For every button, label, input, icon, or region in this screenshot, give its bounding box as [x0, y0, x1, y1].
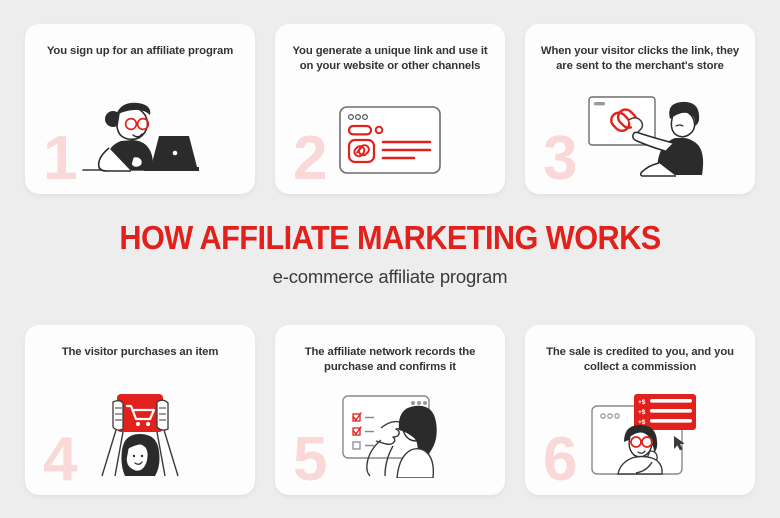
step-card-2-title: You generate a unique link and use it on… [289, 44, 491, 73]
step-card-1-number: 1 [43, 128, 77, 190]
step-card-6-number: 6 [543, 429, 577, 491]
step-card-4-number: 4 [43, 429, 77, 491]
step-card-4: The visitor purchases an item 4 [25, 325, 255, 495]
person-with-checklist-illustration [341, 392, 457, 483]
svg-text:+$: +$ [638, 409, 646, 416]
step-card-6-title: The sale is credited to you, and you col… [539, 345, 741, 374]
step-card-3-title: When your visitor clicks the link, they … [539, 44, 741, 73]
step-card-3-number: 3 [543, 128, 577, 190]
steps-row-top: You sign up for an affiliate program 1 [0, 24, 780, 194]
step-card-1: You sign up for an affiliate program 1 [25, 24, 255, 194]
step-card-1-title: You sign up for an affiliate program [39, 44, 241, 59]
steps-row-bottom: The visitor purchases an item 4 [0, 325, 780, 495]
step-card-6: The sale is credited to you, and you col… [525, 325, 755, 495]
person-holding-shopping-cart-illustration [92, 392, 188, 483]
svg-text:+$: +$ [638, 399, 646, 406]
person-with-commission-panel-illustration: +$ +$ +$ [590, 392, 708, 483]
affiliate-marketing-infographic: You sign up for an affiliate program 1 [0, 0, 780, 518]
step-card-5-title: The affiliate network records the purcha… [289, 345, 491, 374]
svg-text:+$: +$ [638, 419, 646, 426]
step-card-4-title: The visitor purchases an item [39, 345, 241, 360]
step-card-5-number: 5 [293, 429, 327, 491]
step-card-2-number: 2 [293, 128, 327, 190]
step-card-3: When your visitor clicks the link, they … [525, 24, 755, 194]
person-at-laptop-illustration [81, 91, 199, 182]
step-card-5: The affiliate network records the purcha… [275, 325, 505, 495]
step-card-2: You generate a unique link and use it on… [275, 24, 505, 194]
sub-title: e-commerce affiliate program [0, 265, 780, 289]
browser-window-with-link-illustration [338, 105, 442, 182]
person-clicking-link-on-screen-illustration [587, 93, 711, 182]
main-title: HOW AFFILIATE MARKETING WORKS [27, 218, 752, 258]
heading-block: HOW AFFILIATE MARKETING WORKS e-commerce… [0, 218, 780, 289]
